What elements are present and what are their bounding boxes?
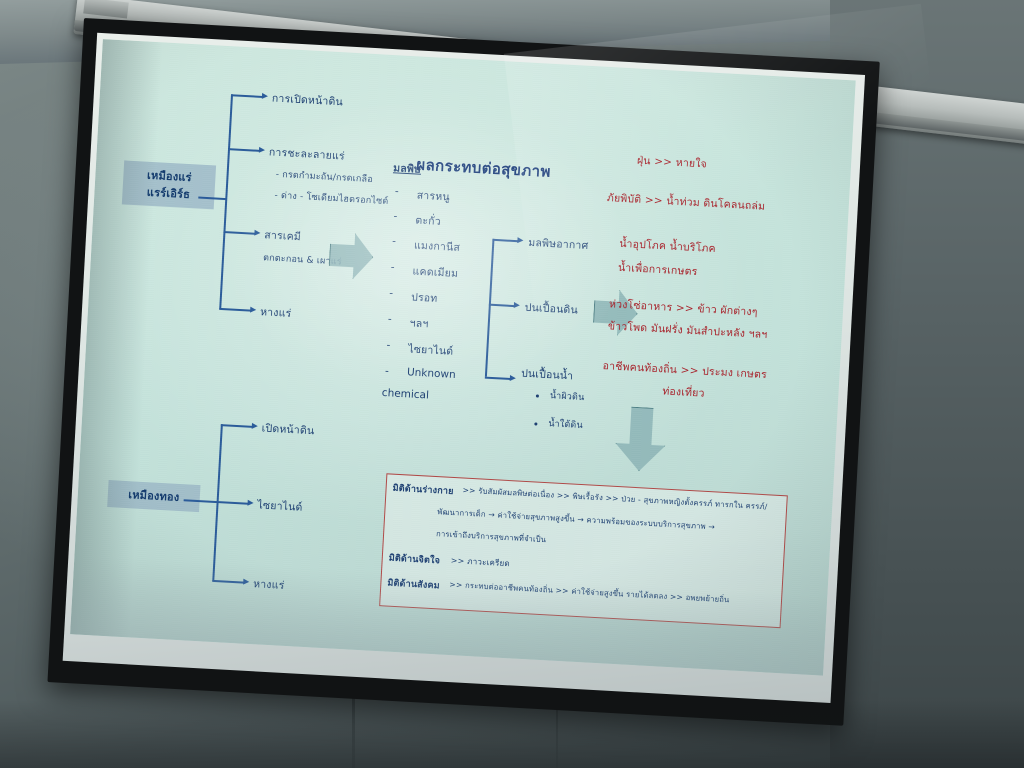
pathway-label-water: ปนเปื้อนน้ำ xyxy=(521,365,574,385)
pollutant-dash-8: - xyxy=(385,365,390,377)
impact-food-crops: ข้าวโพด มันฝรั่ง มันสำปะหลัง ฯลฯ xyxy=(607,317,768,343)
connector-branch-1a xyxy=(231,94,263,97)
pollutant-dash-7: - xyxy=(386,339,391,351)
branch-label-2c: หางแร่ xyxy=(253,575,285,594)
branch-label-1d: หางแร่ xyxy=(260,303,292,322)
floor-shadow xyxy=(0,700,1024,768)
room-photo: ผลกระทบต่อสุขภาพ เหมืองแร่ แรร์เอิร์ธ กา… xyxy=(0,0,1024,768)
pollutant-dash-5: - xyxy=(389,287,394,299)
screen-surface: ผลกระทบต่อสุขภาพ เหมืองแร่ แรร์เอิร์ธ กา… xyxy=(63,33,865,703)
impact-water-use: น้ำอุปโภค น้ำบริโภค xyxy=(619,235,716,257)
branch-label-2a: เปิดหน้าดิน xyxy=(261,419,315,439)
node-rare-earth-mine: เหมืองแร่ แรร์เอิร์ธ xyxy=(122,160,216,209)
pathway-label-air: มลพิษอากาศ xyxy=(528,234,589,254)
branch-label-1c: สารเคมี xyxy=(264,226,302,245)
projected-slide: ผลกระทบต่อสุขภาพ เหมืองแร่ แรร์เอิร์ธ กา… xyxy=(70,39,856,676)
pathway-spine xyxy=(485,239,494,377)
bullet-surface-water xyxy=(536,394,539,397)
arrowhead-1a xyxy=(262,92,268,98)
branch-label-1b: การชะละลายแร่ xyxy=(268,143,345,164)
summary-row2-label: มิติด้านจิตใจ xyxy=(388,551,440,568)
pollutant-dash-4: - xyxy=(390,261,395,273)
connector-spine-1 xyxy=(219,94,232,309)
impact-dust: ฝุ่น >> หายใจ xyxy=(637,152,708,173)
flow-arrow-down xyxy=(614,406,667,473)
arrowhead-air xyxy=(517,237,523,243)
impact-tourism: ท่องเที่ยว xyxy=(662,382,705,401)
pathway-sub-ground-water: น้ำใต้ดิน xyxy=(548,416,583,432)
arrowhead-1d xyxy=(250,306,256,312)
connector-branch-1b xyxy=(228,148,260,151)
slide-content: ผลกระทบต่อสุขภาพ เหมืองแร่ แรร์เอิร์ธ กา… xyxy=(70,39,856,676)
impact-livelihood: อาชีพคนท้องถิ่น >> ประมง เกษตร xyxy=(602,357,767,383)
node-gold-mine: เหมืองทอง xyxy=(107,480,200,512)
pathway-branch-water xyxy=(485,377,511,380)
pollutant-item-1: สารหนู xyxy=(416,187,450,206)
bullet-ground-water xyxy=(534,422,537,425)
arrowhead-soil xyxy=(514,302,520,308)
summary-row3-label: มิติด้านสังคม xyxy=(387,576,440,593)
connector-branch-2c xyxy=(212,580,244,583)
pollutant-dash-2: - xyxy=(393,210,398,222)
pollutant-item-4: แคดเมียม xyxy=(412,262,458,281)
projector-screen: ผลกระทบต่อสุขภาพ เหมืองแร่ แรร์เอิร์ธ กา… xyxy=(47,18,879,726)
pathway-sub-surface-water: น้ำผิวดิน xyxy=(550,388,585,404)
impact-agri-water: น้ำเพื่อการเกษตร xyxy=(618,259,698,280)
flow-arrow-right-1 xyxy=(328,232,374,280)
slide-title: ผลกระทบต่อสุขภาพ xyxy=(416,153,552,184)
pollutant-item-8: Unknown xyxy=(407,366,456,381)
pollutant-item-2: ตะกั่ว xyxy=(415,212,441,230)
pollutant-dash-1: - xyxy=(395,185,400,197)
arrowhead-2c xyxy=(243,578,249,584)
impact-disaster: ภัยพิบัติ >> น้ำท่วม ดินโคลนถล่ม xyxy=(606,189,765,215)
connector-branch-1d xyxy=(219,308,251,311)
node-line-2: แรร์เอิร์ธ xyxy=(130,183,207,204)
pollutant-dash-6: - xyxy=(388,313,393,325)
pathway-branch-soil xyxy=(489,304,515,307)
connector-branch-2b xyxy=(217,501,249,504)
pathway-label-soil: ปนเปื้อนดิน xyxy=(524,299,578,319)
branch-label-1a: การเปิดหน้าดิน xyxy=(271,89,343,110)
branch-sub-1b-2: - ด่าง - โซเดียมไฮดรอกไซด์ xyxy=(274,188,389,208)
branch-label-2b: ไซยาไนด์ xyxy=(257,496,303,515)
pollutants-heading: มลพิษ xyxy=(393,159,422,178)
pollutant-item-8-cont: chemical xyxy=(382,387,430,402)
pollutant-item-3: แมงกานีส xyxy=(414,236,461,256)
pollutant-item-7: ไซยาไนด์ xyxy=(408,340,454,359)
arrowhead-1b xyxy=(259,146,265,152)
connector-branch-1c xyxy=(223,231,255,234)
pathway-branch-air xyxy=(492,239,518,242)
pollutant-item-5: ปรอท xyxy=(411,288,438,306)
arrowhead-2b xyxy=(247,499,253,505)
arrowhead-1c xyxy=(254,229,260,235)
connector-branch-2a xyxy=(221,424,253,427)
pollutant-dash-3: - xyxy=(392,235,397,247)
pollutant-item-6: ฯลฯ xyxy=(409,314,429,332)
arrowhead-water xyxy=(510,374,516,380)
branch-sub-1b-1: - กรดกำมะถัน/กรดเกลือ xyxy=(275,167,373,186)
arrowhead-2a xyxy=(252,422,258,428)
